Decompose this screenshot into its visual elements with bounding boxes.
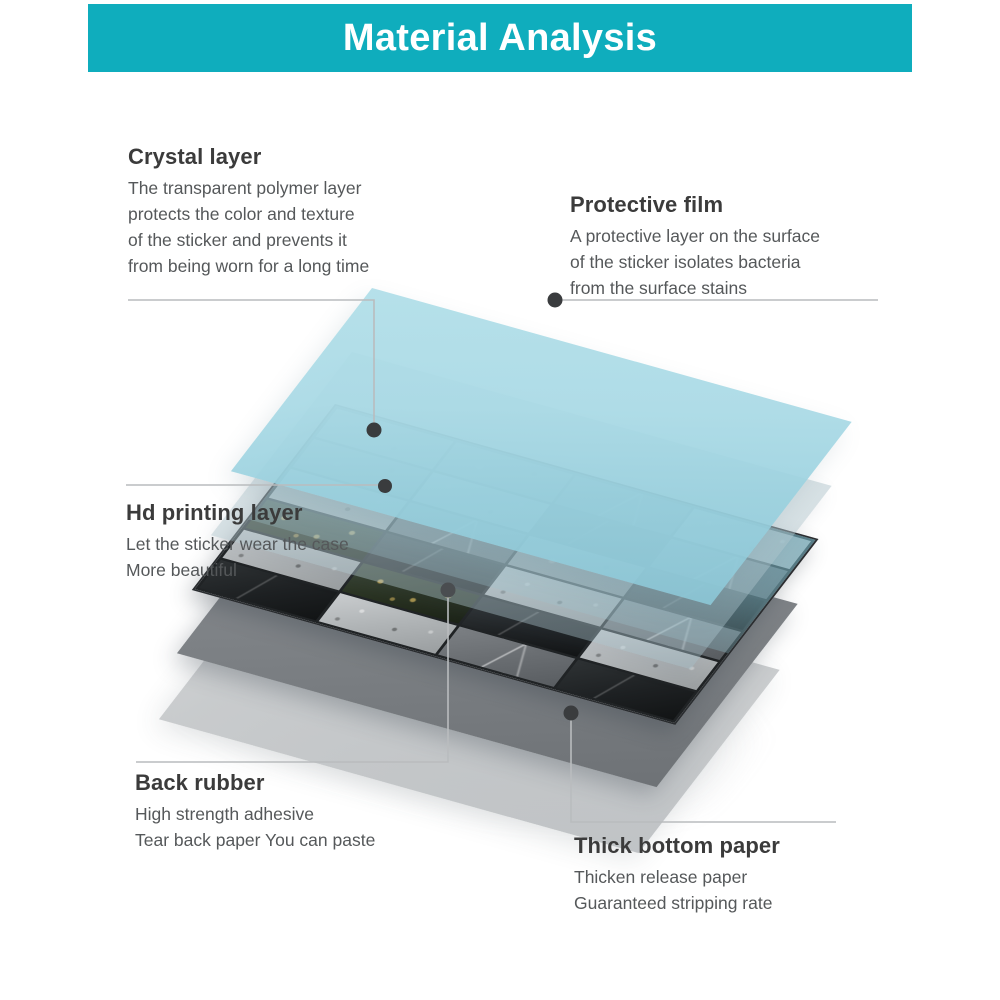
callout-line: A protective layer on the surface [570,223,820,249]
callout-line: Thicken release paper [574,864,780,890]
callout-line: More beautiful [126,557,349,583]
callout-title: Back rubber [135,770,375,796]
callout-thick-bottom-paper: Thick bottom paper Thicken release paper… [574,833,780,916]
callout-back-rubber: Back rubber High strength adhesive Tear … [135,770,375,853]
callout-line: High strength adhesive [135,801,375,827]
callout-line: of the sticker and prevents it [128,227,369,253]
callout-line: Tear back paper You can paste [135,827,375,853]
callout-crystal-layer: Crystal layer The transparent polymer la… [128,144,369,279]
callout-line: from the surface stains [570,275,820,301]
callout-line: from being worn for a long time [128,253,369,279]
callout-line: Guaranteed stripping rate [574,890,780,916]
callout-line: Let the sticker wear the case [126,531,349,557]
infographic-page: Material Analysis [0,0,1000,1000]
callout-line: of the sticker isolates bacteria [570,249,820,275]
callout-title: Hd printing layer [126,500,349,526]
callout-hd-printing-layer: Hd printing layer Let the sticker wear t… [126,500,349,583]
callout-title: Crystal layer [128,144,369,170]
callout-protective-film: Protective film A protective layer on th… [570,192,820,301]
callout-line: The transparent polymer layer [128,175,369,201]
callout-line: protects the color and texture [128,201,369,227]
callout-title: Protective film [570,192,820,218]
callout-title: Thick bottom paper [574,833,780,859]
